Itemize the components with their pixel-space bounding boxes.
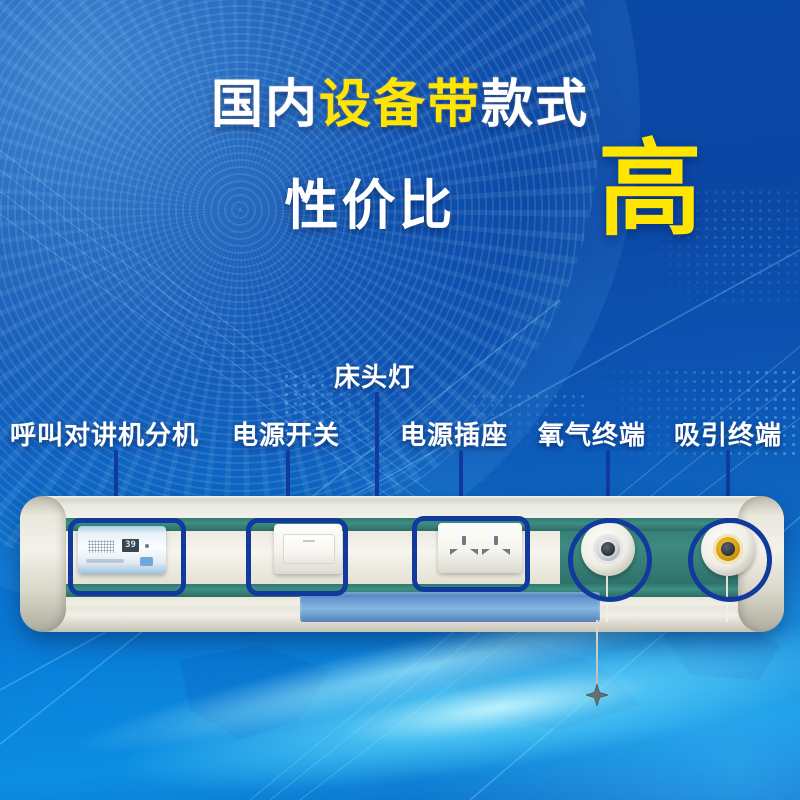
pull-cord[interactable] [596,620,598,692]
socket-pin-top-icon [494,536,498,545]
suction-terminal-wire [726,576,728,622]
headline-big-character: 高 [598,137,702,241]
socket-pin-right-icon [470,549,478,555]
callout-label-suction: 吸引终端 [674,415,782,452]
headline-line-1-part-2: 款式 [481,75,589,135]
bed-lamp-diffuser[interactable] [300,592,600,622]
headline-line-2: 性价比 [285,161,456,240]
headline-block: 国内设备带款式 性价比 高 [0,78,800,257]
promo-banner: 国内设备带款式 性价比 高 呼叫对讲机分机 电源开关 床头灯 电源插座 氧气终端… [0,0,800,800]
socket-pin-left-icon [450,549,458,555]
suction-terminal[interactable] [701,522,755,576]
socket-outlet-right[interactable] [481,536,511,562]
power-switch[interactable] [274,524,342,574]
oxygen-terminal-wire [606,576,608,622]
socket-outlet-left[interactable] [449,536,479,562]
socket-pin-left-icon [482,549,490,555]
headline-line-1-part-1: 国内 [211,75,319,135]
bed-head-unit-panel: 39 [20,496,784,632]
callout-label-bed-lamp: 床头灯 [334,357,415,394]
callout-label-power-switch: 电源开关 [232,415,340,452]
rocker-paddle[interactable] [283,534,335,564]
suction-terminal-ring [713,534,743,564]
intercom-display: 39 [122,539,139,552]
oxygen-terminal-port-icon [601,542,615,556]
socket-pin-right-icon [502,549,510,555]
callout-label-power-socket: 电源插座 [400,415,508,452]
oxygen-terminal-ring [593,534,623,564]
intercom-slot [86,559,124,563]
callout-label-oxygen: 氧气终端 [538,415,646,452]
status-led-icon [145,544,149,548]
suction-terminal-port-icon [721,542,735,556]
intercom-call-button[interactable] [140,557,153,566]
power-socket[interactable] [438,523,522,573]
socket-pin-top-icon [462,536,466,545]
headline-line-2-row: 性价比 高 [0,147,800,257]
nurse-call-intercom[interactable]: 39 [78,526,166,574]
rail-end-cap-left [20,496,66,632]
headline-line-1-highlight: 设备带 [319,75,481,135]
speaker-grille-icon [88,540,114,553]
headline-line-1: 国内设备带款式 [0,78,800,133]
rocker-mark-icon [303,540,315,542]
oxygen-terminal[interactable] [581,522,635,576]
pull-cord-knob-icon[interactable] [586,684,608,706]
callout-label-intercom: 呼叫对讲机分机 [10,415,199,452]
